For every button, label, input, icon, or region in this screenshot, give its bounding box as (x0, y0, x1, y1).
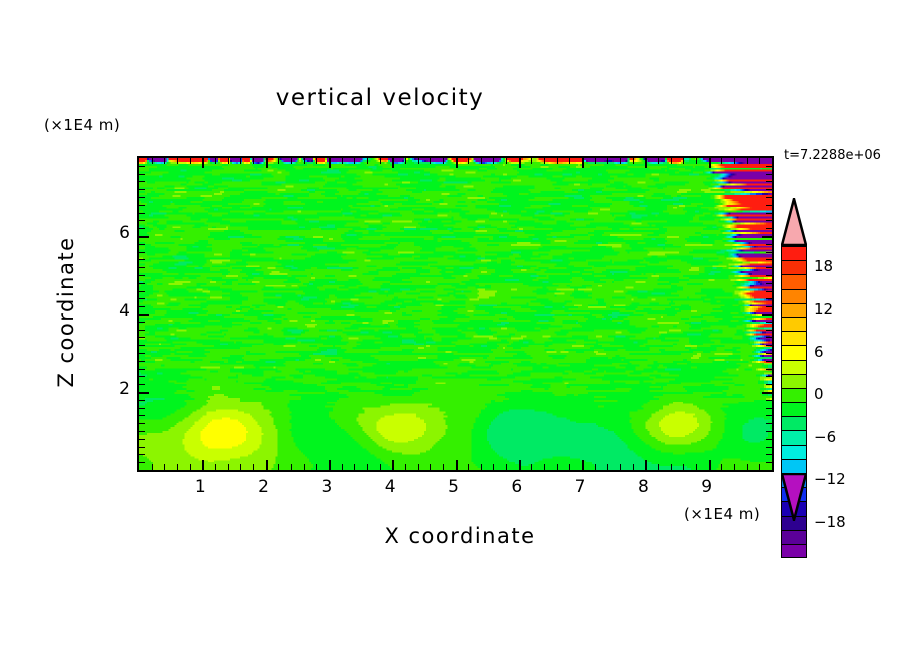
colorbar-segment (781, 289, 807, 303)
colorbar-segment (781, 445, 807, 459)
colorbar-tick-label: 0 (814, 385, 824, 403)
colorbar-tick-label: 18 (814, 257, 833, 275)
colorbar-segment (781, 331, 807, 345)
colorbar-segment (781, 544, 807, 558)
colorbar-under-arrow (781, 473, 807, 521)
x-tick-label: 6 (502, 477, 532, 497)
z-axis-unit-label: (×1E4 m) (44, 116, 120, 134)
x-tick-label: 5 (439, 477, 469, 497)
x-tick-label: 7 (565, 477, 595, 497)
x-axis-title: X coordinate (260, 524, 660, 548)
colorbar-segment (781, 402, 807, 416)
colorbar-segment (781, 303, 807, 317)
z-tick-label: 4 (100, 301, 130, 321)
plot-area (137, 156, 774, 472)
colorbar-segment (781, 416, 807, 430)
colorbar-segment (781, 430, 807, 444)
colorbar-tick-label: −6 (814, 428, 836, 446)
x-tick-label: 8 (628, 477, 658, 497)
x-tick-label: 4 (375, 477, 405, 497)
contour-plot-figure: vertical velocity (×1E4 m) (×1E4 m) X co… (0, 0, 904, 654)
x-axis-unit-label: (×1E4 m) (684, 505, 760, 523)
colorbar-tick-label: −12 (814, 470, 846, 488)
colorbar-over-arrow (781, 198, 807, 246)
colorbar-tick-label: −18 (814, 513, 846, 531)
colorbar-segment (781, 459, 807, 473)
contour-field (139, 158, 772, 470)
x-tick-label: 3 (312, 477, 342, 497)
page-title: vertical velocity (0, 85, 760, 111)
colorbar-segment (781, 274, 807, 288)
colorbar-segment (781, 345, 807, 359)
z-axis-title: Z coordinate (54, 222, 78, 402)
colorbar-segment (781, 388, 807, 402)
colorbar-segment (781, 260, 807, 274)
time-annotation: t=7.2288e+06 (784, 148, 881, 163)
colorbar-segment (781, 374, 807, 388)
x-tick-label: 9 (692, 477, 722, 497)
colorbar-tick-label: 12 (814, 300, 833, 318)
z-tick-label: 2 (100, 379, 130, 399)
x-tick-label: 2 (249, 477, 279, 497)
colorbar-segment (781, 530, 807, 544)
colorbar-segment (781, 246, 807, 260)
z-tick-label: 6 (100, 223, 130, 243)
x-tick-label: 1 (185, 477, 215, 497)
contour-canvas (139, 158, 772, 470)
colorbar-segment (781, 360, 807, 374)
colorbar-tick-label: 6 (814, 343, 824, 361)
colorbar-segment (781, 317, 807, 331)
